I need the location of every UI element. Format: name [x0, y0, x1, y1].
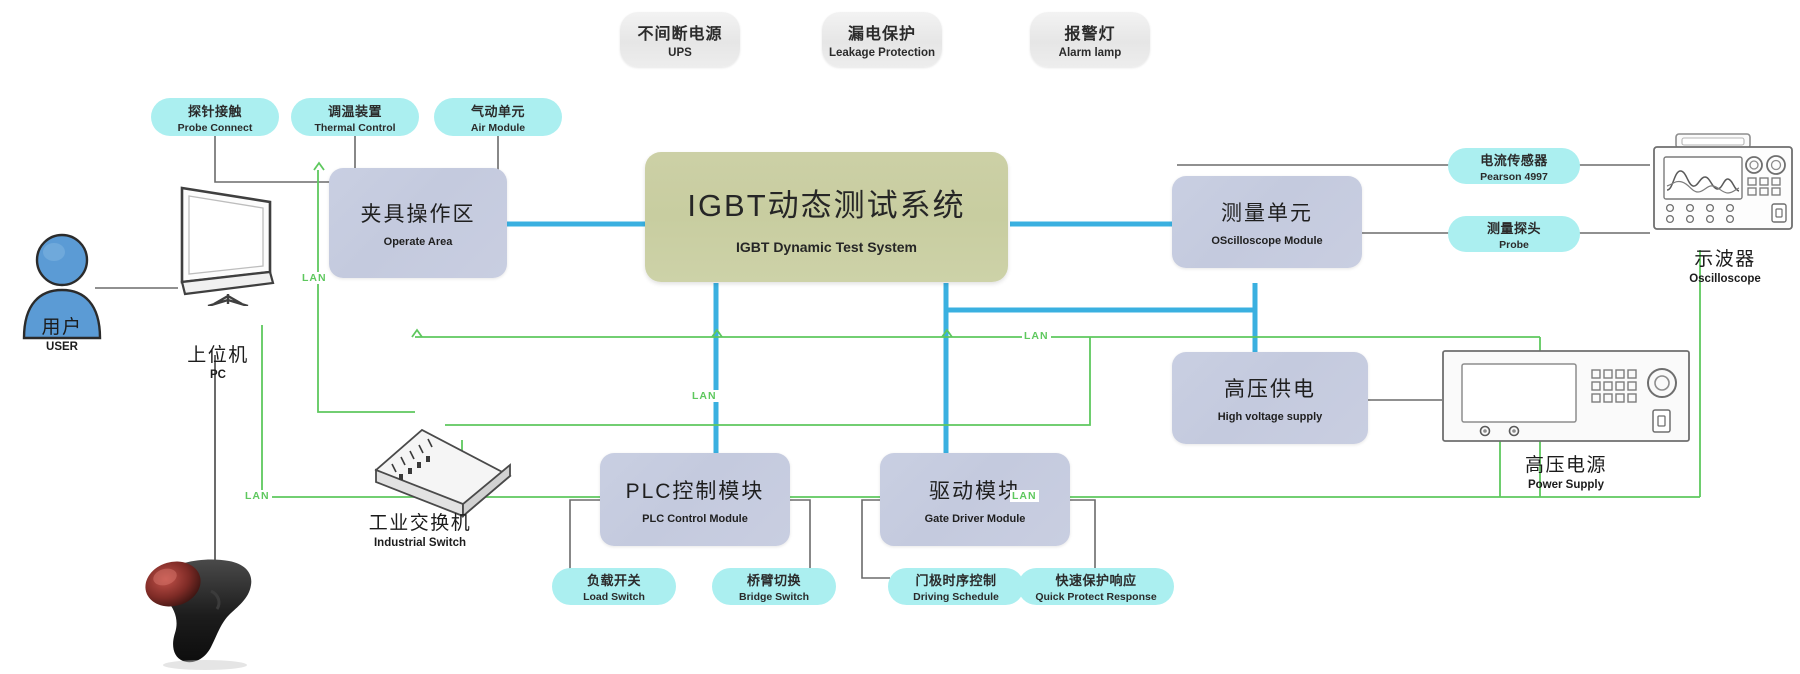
lan-label-bottom: LAN — [1010, 490, 1039, 502]
utility-alarm-cn: 报警灯 — [1064, 20, 1115, 44]
caption-industrial-switch: 工业交换机 Industrial Switch — [330, 508, 510, 549]
caption-oscilloscope: 示波器 Oscilloscope — [1655, 244, 1795, 285]
leaf-bridge-switch-cn: 桥臂切换 — [747, 570, 801, 589]
lan-label-plc: LAN — [690, 390, 719, 402]
caption-supply-en: Power Supply — [1496, 479, 1636, 491]
oscilloscope-icon — [1648, 130, 1800, 245]
block-driver-cn: 驱动模块 — [929, 475, 1021, 505]
lan-jump-upper-c — [942, 330, 952, 337]
leaf-driving-schedule-en: Driving Schedule — [913, 591, 999, 603]
lan-label-pc: LAN — [243, 490, 272, 502]
caption-scope-cn: 示波器 — [1655, 244, 1795, 271]
caption-user-en: USER — [10, 341, 114, 353]
utility-ups-en: UPS — [668, 47, 692, 59]
diagram-canvas: 不间断电源 UPS 漏电保护 Leakage Protection 报警灯 Al… — [0, 0, 1800, 674]
caption-power-supply: 高压电源 Power Supply — [1496, 450, 1636, 491]
main-title-cn: IGBT动态测试系统 — [687, 180, 965, 225]
block-measure-cn: 测量单元 — [1221, 197, 1313, 227]
lan-label-fixture: LAN — [300, 272, 329, 284]
leaf-air-module[interactable]: 气动单元 Air Module — [434, 98, 562, 136]
utility-leakage-cn: 漏电保护 — [848, 20, 916, 44]
block-hv-supply-en: High voltage supply — [1218, 411, 1323, 423]
leaf-load-switch-cn: 负载开关 — [587, 570, 641, 589]
lan-label-upper-right: LAN — [1022, 330, 1051, 342]
block-hv-supply-cn: 高压供电 — [1224, 373, 1316, 403]
leaf-quick-protect-cn: 快速保护响应 — [1055, 570, 1136, 589]
leaf-current-sensor-cn: 电流传感器 — [1480, 150, 1548, 169]
caption-switch-cn: 工业交换机 — [330, 508, 510, 535]
lan-jump-upper-a — [412, 330, 422, 337]
caption-user: 用户 USER — [10, 312, 114, 353]
leaf-driving-schedule[interactable]: 门极时序控制 Driving Schedule — [888, 568, 1024, 605]
power-supply-icon — [1440, 348, 1692, 446]
leaf-current-sensor-en: Pearson 4997 — [1480, 171, 1548, 183]
caption-pc: 上位机 PC — [168, 340, 268, 381]
wire-plc-bridge-switch — [790, 500, 810, 578]
monitor-icon — [170, 184, 280, 306]
block-plc-control-module[interactable]: PLC控制模块 PLC Control Module — [600, 453, 790, 546]
lan-jump-upper-b — [712, 330, 722, 337]
lan-switch-trunk-up — [445, 337, 1090, 425]
leaf-thermal-control-en: Thermal Control — [314, 122, 395, 134]
leaf-current-sensor[interactable]: 电流传感器 Pearson 4997 — [1448, 148, 1580, 184]
leaf-measure-probe-cn: 测量探头 — [1487, 218, 1541, 237]
block-operate-area-cn: 夹具操作区 — [361, 198, 476, 228]
block-driver-en: Gate Driver Module — [925, 513, 1026, 525]
leaf-quick-protect-en: Quick Protect Response — [1035, 591, 1156, 603]
leaf-measure-probe-en: Probe — [1499, 239, 1529, 251]
block-plc-cn: PLC控制模块 — [626, 475, 765, 505]
leaf-driving-schedule-cn: 门极时序控制 — [915, 570, 996, 589]
block-operate-area[interactable]: 夹具操作区 Operate Area — [329, 168, 507, 278]
leaf-bridge-switch[interactable]: 桥臂切换 Bridge Switch — [712, 568, 836, 605]
leaf-air-module-cn: 气动单元 — [471, 101, 525, 120]
caption-scope-en: Oscilloscope — [1655, 273, 1795, 285]
wire-plc-load-switch — [570, 500, 600, 578]
leaf-bridge-switch-en: Bridge Switch — [739, 591, 809, 603]
caption-user-cn: 用户 — [10, 312, 114, 339]
block-operate-area-en: Operate Area — [384, 236, 453, 248]
utility-ups-cn: 不间断电源 — [637, 20, 722, 44]
block-measure-en: OScilloscope Module — [1211, 235, 1322, 247]
block-gate-driver-module[interactable]: 驱动模块 Gate Driver Module — [880, 453, 1070, 546]
block-oscilloscope-module[interactable]: 测量单元 OScilloscope Module — [1172, 176, 1362, 268]
utility-leakage-protection[interactable]: 漏电保护 Leakage Protection — [822, 12, 942, 67]
block-igbt-dynamic-test-system[interactable]: IGBT动态测试系统 IGBT Dynamic Test System — [645, 152, 1008, 282]
utility-leakage-en: Leakage Protection — [829, 47, 935, 59]
leaf-load-switch-en: Load Switch — [583, 591, 645, 603]
leaf-probe-connect-cn: 探针接触 — [188, 101, 242, 120]
block-plc-en: PLC Control Module — [642, 513, 748, 525]
wire-probe-connect — [215, 130, 330, 182]
caption-switch-en: Industrial Switch — [330, 537, 510, 549]
leaf-quick-protect-response[interactable]: 快速保护响应 Quick Protect Response — [1018, 568, 1174, 605]
caption-supply-cn: 高压电源 — [1496, 450, 1636, 477]
lan-jump-fixture — [314, 163, 324, 170]
utility-alarm-en: Alarm lamp — [1059, 47, 1122, 59]
leaf-air-module-en: Air Module — [471, 122, 525, 134]
leaf-probe-connect-en: Probe Connect — [178, 122, 253, 134]
leaf-load-switch[interactable]: 负载开关 Load Switch — [552, 568, 676, 605]
utility-ups[interactable]: 不间断电源 UPS — [620, 12, 740, 67]
leaf-probe-connect[interactable]: 探针接触 Probe Connect — [151, 98, 279, 136]
leaf-measure-probe[interactable]: 测量探头 Probe — [1448, 216, 1580, 252]
barcode-scanner-icon — [125, 555, 295, 670]
leaf-thermal-control-cn: 调温装置 — [328, 101, 382, 120]
caption-pc-cn: 上位机 — [168, 340, 268, 367]
main-title-en: IGBT Dynamic Test System — [736, 239, 917, 255]
block-high-voltage-supply[interactable]: 高压供电 High voltage supply — [1172, 352, 1368, 444]
wire-driver-quick-protect — [1070, 500, 1095, 578]
leaf-thermal-control[interactable]: 调温装置 Thermal Control — [291, 98, 419, 136]
utility-alarm-lamp[interactable]: 报警灯 Alarm lamp — [1030, 12, 1150, 67]
caption-pc-en: PC — [168, 369, 268, 381]
